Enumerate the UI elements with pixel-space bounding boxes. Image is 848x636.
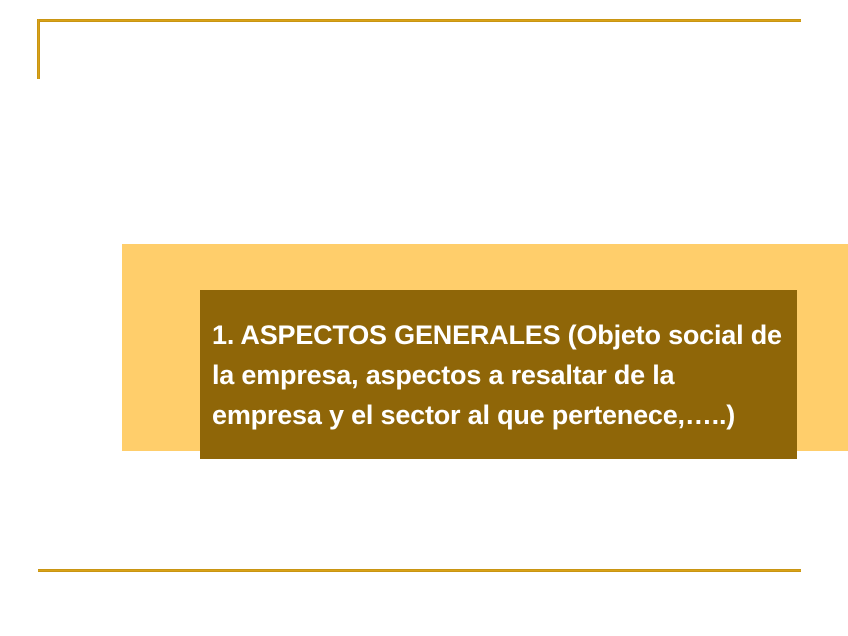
slide-title: 1. ASPECTOS GENERALES (Objeto social de … — [212, 315, 787, 435]
title-box: 1. ASPECTOS GENERALES (Objeto social de … — [200, 290, 797, 459]
bottom-horizontal-rule — [38, 569, 801, 572]
slide-canvas: 1. ASPECTOS GENERALES (Objeto social de … — [0, 0, 848, 636]
top-horizontal-rule — [37, 19, 801, 22]
top-vertical-rule — [37, 19, 40, 79]
